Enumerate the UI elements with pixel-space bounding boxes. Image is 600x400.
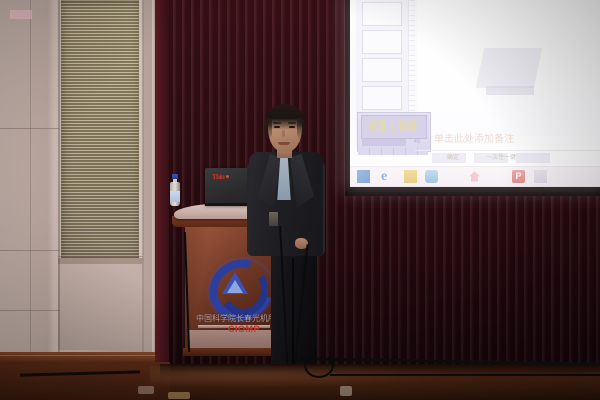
qq-icon[interactable] bbox=[425, 170, 438, 183]
floor-object bbox=[168, 392, 190, 399]
speaker-mouth bbox=[278, 142, 290, 145]
wall-seam bbox=[58, 256, 143, 257]
start-icon[interactable] bbox=[357, 170, 370, 183]
speaker-leg-seam bbox=[292, 258, 294, 366]
bottle-cap bbox=[172, 174, 178, 179]
floor-cable-loop bbox=[304, 352, 334, 378]
speaker-nose bbox=[282, 130, 285, 137]
wall-seam bbox=[58, 0, 60, 374]
slide-thumbnail[interactable] bbox=[362, 58, 402, 82]
slide-graphic bbox=[486, 86, 534, 95]
speaker-hair-side bbox=[264, 118, 272, 140]
wall-lower-panel bbox=[58, 264, 143, 350]
timer-value: 45:00 bbox=[362, 115, 424, 137]
wall-seam bbox=[0, 250, 60, 251]
wall-seam bbox=[0, 310, 60, 311]
logo-triangle-inner-icon bbox=[227, 280, 243, 293]
slide-thumbnail[interactable] bbox=[362, 30, 402, 54]
floor-cable bbox=[330, 374, 600, 376]
wall-seam bbox=[0, 128, 60, 129]
slide-thumbnail[interactable] bbox=[362, 86, 402, 110]
louvered-blind-panel bbox=[60, 0, 142, 262]
slide-thumbnail[interactable] bbox=[362, 2, 402, 26]
speaker-legs bbox=[271, 250, 317, 370]
institute-name-cn: 中国科学院长春光机所 bbox=[196, 313, 272, 324]
floor-reflection bbox=[150, 366, 450, 388]
slide-graphic bbox=[476, 48, 543, 88]
floor-object bbox=[138, 386, 154, 394]
home-icon[interactable] bbox=[468, 170, 481, 183]
internet-explorer-icon[interactable]: e bbox=[381, 170, 394, 183]
timer-slot-count: 45 bbox=[409, 138, 425, 147]
speaker-eye bbox=[274, 126, 280, 128]
speaker-mic-transmitter bbox=[269, 212, 278, 226]
wall-seam bbox=[142, 0, 144, 374]
speaker-eyebrow bbox=[273, 122, 281, 124]
ciomp-logo bbox=[206, 258, 262, 308]
wall-skirting-highlight bbox=[0, 355, 160, 356]
powerpoint-icon[interactable]: P bbox=[512, 170, 525, 183]
presentation-photo-scene: 45:00 45 单击此处添加备注 确定 一次性一键 e P 中国科学院长春光机… bbox=[0, 0, 600, 400]
laptop-logo-dot-icon bbox=[226, 175, 229, 178]
yellow-app-icon[interactable] bbox=[404, 170, 417, 183]
speaker-eye bbox=[289, 126, 295, 128]
institute-name-en: CIOMP bbox=[228, 324, 272, 335]
podium-base bbox=[183, 348, 283, 356]
dialog-button-secondary[interactable]: 一次性一键 bbox=[478, 153, 524, 163]
bottle-label bbox=[170, 191, 180, 202]
speaker-eyebrow bbox=[288, 122, 296, 124]
slide-thumbnail-content bbox=[10, 10, 32, 19]
wall-seam bbox=[30, 0, 31, 374]
notes-placeholder[interactable]: 单击此处添加备注 bbox=[434, 133, 514, 147]
speaker-hair-side bbox=[297, 118, 305, 140]
floor-object bbox=[340, 386, 352, 396]
notes-divider bbox=[415, 150, 600, 151]
dialog-button-confirm[interactable]: 确定 bbox=[436, 153, 470, 163]
timer-progress-bar[interactable] bbox=[362, 139, 406, 146]
curtain-left-edge bbox=[155, 0, 169, 368]
stage-floor-left bbox=[0, 362, 170, 400]
window-icon[interactable] bbox=[534, 170, 547, 183]
